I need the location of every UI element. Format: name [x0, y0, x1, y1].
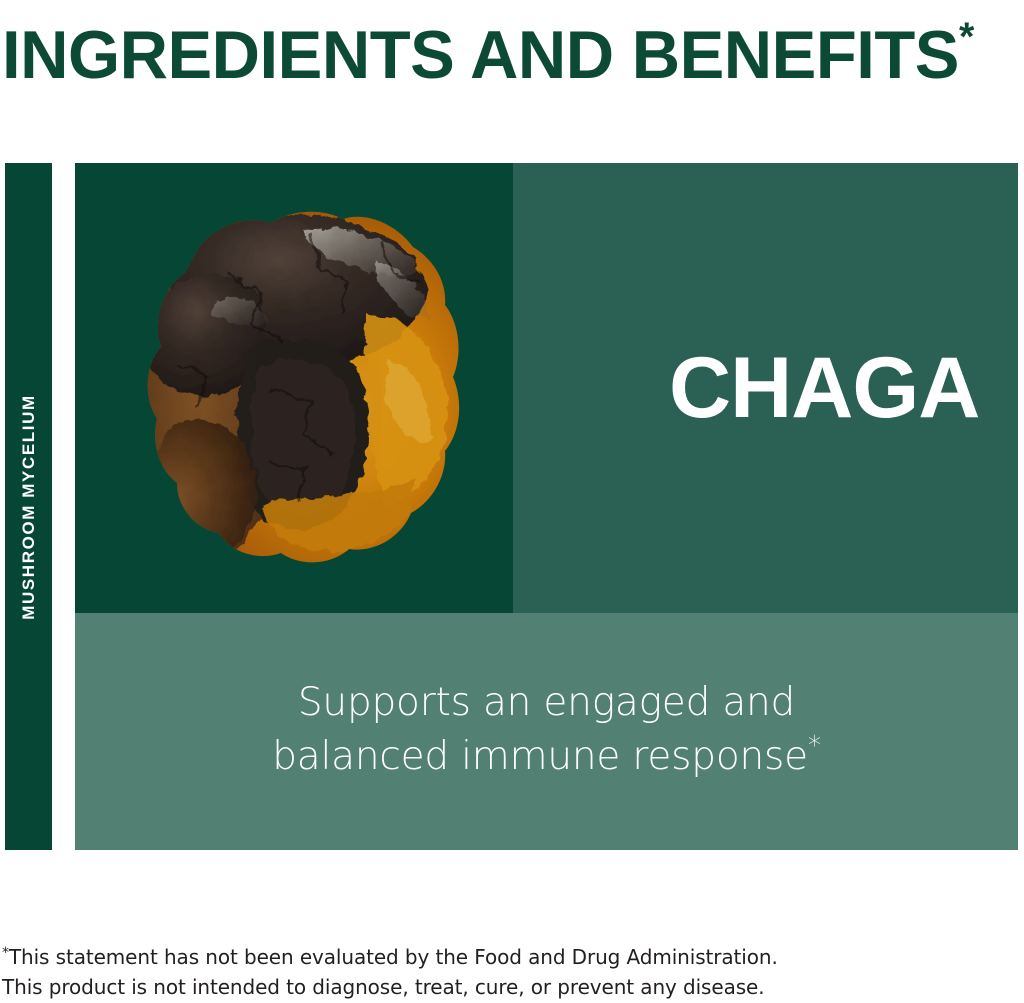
chaga-mushroom-image	[75, 163, 513, 613]
category-bar-label: MUSHROOM MYCELIUM	[19, 394, 39, 620]
page-title: INGREDIENTS AND BENEFITS*	[2, 0, 1007, 80]
page-title-asterisk: *	[959, 15, 974, 59]
benefit-asterisk: *	[808, 731, 821, 761]
page-title-text: INGREDIENTS AND BENEFITS	[2, 17, 959, 93]
ingredient-name: CHAGA	[669, 345, 979, 431]
ingredient-name-pane: CHAGA	[513, 163, 1018, 613]
benefit-band: Supports an engaged and balanced immune …	[75, 613, 1018, 850]
footnote-asterisk: *	[2, 945, 9, 961]
legal-footnote: *This statement has not been evaluated b…	[2, 938, 1012, 1002]
category-bar: MUSHROOM MYCELIUM	[5, 163, 52, 850]
ingredient-card: CHAGA Supports an engaged and balanced i…	[75, 163, 1018, 850]
footnote-line-2: This product is not intended to diagnose…	[2, 972, 1012, 1002]
benefit-statement-text: Supports an engaged and balanced immune …	[272, 680, 808, 778]
ingredient-card-top: CHAGA	[75, 163, 1018, 613]
benefit-statement: Supports an engaged and balanced immune …	[217, 677, 877, 782]
chaga-photo-pane	[75, 163, 513, 613]
footnote-line-1: *This statement has not been evaluated b…	[2, 938, 1012, 972]
footnote-line-1-text: This statement has not been evaluated by…	[9, 945, 778, 969]
